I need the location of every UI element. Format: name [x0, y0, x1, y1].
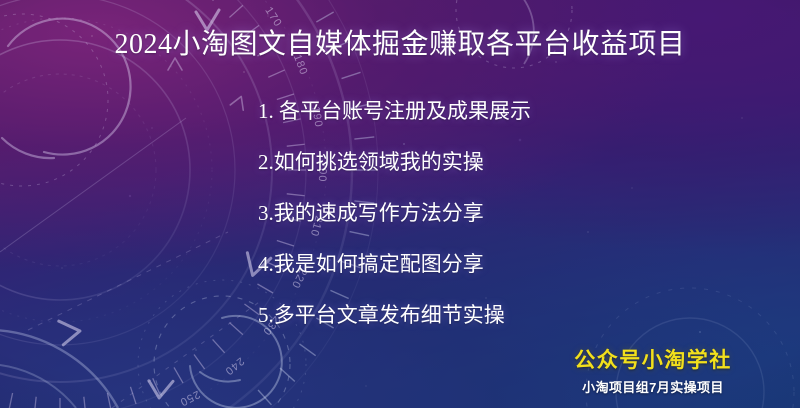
list-item-label: 1. 各平台账号注册及成果展示	[258, 101, 531, 122]
connector-lines	[0, 118, 262, 408]
arc-cluster-bottom-left	[0, 330, 118, 408]
page-title: 2024小淘图文自媒体掘金赚取各平台收益项目	[0, 22, 800, 62]
brand-subtitle: 小淘项目组7月实操项目	[528, 377, 778, 396]
list-item-label: 5.多平台文章发布细节实操	[258, 305, 505, 326]
dial-label: 250	[177, 388, 201, 408]
list-item: 2.如何挑选领域我的实操	[258, 137, 738, 188]
dial-label: 240	[222, 355, 246, 378]
footer-brand-block: 公众号小淘学社 小淘项目组7月实操项目	[528, 348, 778, 396]
list-item: 4.我是如何搞定配图分享	[258, 239, 738, 290]
list-item: 1. 各平台账号注册及成果展示	[258, 86, 738, 137]
chevron-marker-icon	[59, 10, 271, 399]
brand-name: 公众号小淘学社	[528, 348, 778, 372]
list-item-label: 3.我的速成写作方法分享	[258, 203, 484, 224]
chevron-small-icon	[168, 58, 248, 110]
agenda-list: 1. 各平台账号注册及成果展示 2.如何挑选领域我的实操 3.我的速成写作方法分…	[258, 86, 738, 341]
list-item-label: 4.我是如何搞定配图分享	[258, 254, 484, 275]
slide-canvas: 150 160 170 180 190 200 210 220 230 240 …	[0, 0, 800, 408]
list-item: 5.多平台文章发布细节实操	[258, 290, 738, 341]
list-item-label: 2.如何挑选领域我的实操	[258, 152, 484, 173]
list-item: 3.我的速成写作方法分享	[258, 188, 738, 239]
